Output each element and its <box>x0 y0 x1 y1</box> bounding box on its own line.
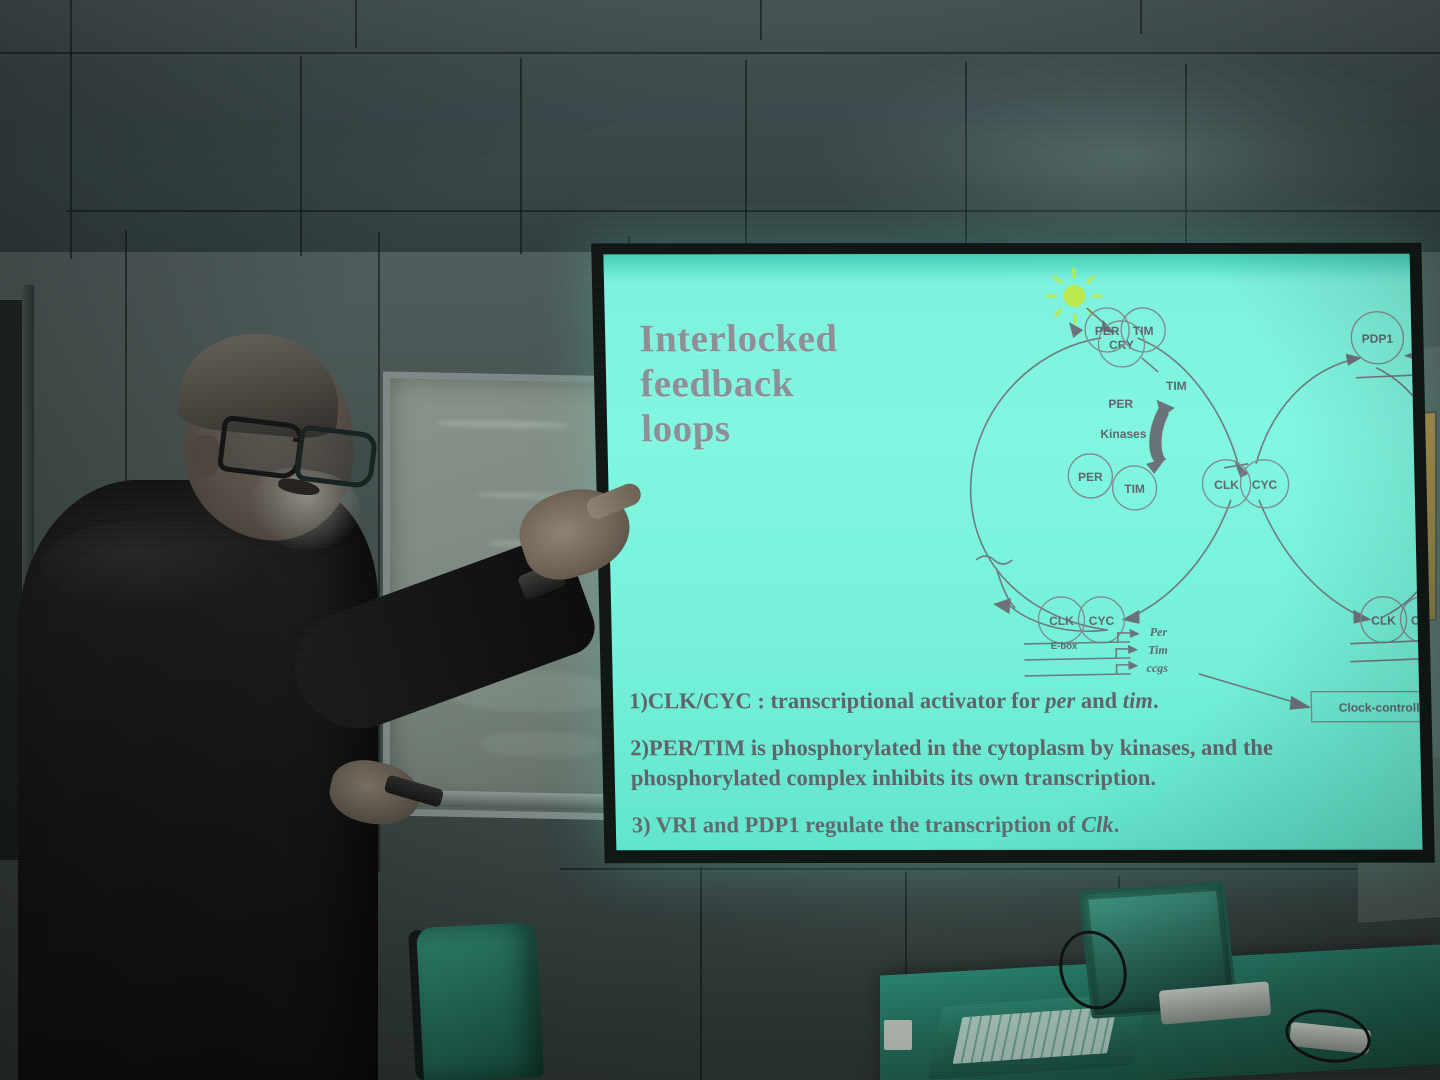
wall-seam <box>700 866 702 1080</box>
presenter-ear <box>190 435 220 477</box>
node-label-cry: CRY <box>1109 338 1134 352</box>
left-loop-arc-down <box>967 338 1107 630</box>
clkcyc-to-right-gene <box>1259 500 1360 616</box>
cabinet-bottom-edge <box>66 210 1440 212</box>
ceiling-seam <box>0 52 1440 54</box>
eyeglass-lens-left <box>217 415 305 481</box>
bullet-3-suffix: . <box>1113 812 1119 837</box>
promoter-line-pdp1 <box>1350 658 1422 662</box>
node-label-tim-free: TIM <box>1166 379 1187 393</box>
node-label-clk-right: CLK <box>1371 614 1396 628</box>
node-label-per-free: PER <box>1108 397 1133 411</box>
bullet-1-italic-per: per <box>1045 688 1076 713</box>
cabinet-seam <box>1185 64 1187 244</box>
wall-seam <box>560 868 1440 870</box>
cry-to-tim-line <box>1142 358 1158 372</box>
arrowhead-right-gene <box>1353 610 1371 624</box>
promoter-label-ebox: E-box <box>1051 641 1078 652</box>
bullet-2-line-1: 2)PER/TIM is phosphorylated in the cytop… <box>630 735 1273 761</box>
promoter-line-tim <box>1024 658 1130 660</box>
pdp1-activate-arc <box>1414 355 1423 393</box>
ceiling-seam <box>760 0 762 40</box>
slide-title-line-2: feedback <box>640 361 839 406</box>
arrowhead-pdp1-top <box>1404 350 1420 362</box>
tss-arrow-dclk <box>1416 365 1423 374</box>
ceiling <box>0 0 1440 120</box>
ceiling-seam <box>1140 0 1142 34</box>
arrowhead-pertim-entry <box>1069 322 1083 338</box>
node-label-per-top: PER <box>1095 324 1120 338</box>
mrna-squiggle-left <box>976 556 1012 564</box>
eyeglass-lens-right <box>294 424 378 489</box>
node-label-per-cyt: PER <box>1078 470 1103 484</box>
arrowhead-tss-tim <box>1128 645 1138 654</box>
arrowhead-tss-per <box>1130 629 1140 638</box>
eyeglasses-icon <box>218 415 393 483</box>
bullet-3: 3) VRI and PDP1 regulate the transcripti… <box>632 810 1413 841</box>
gene-label-per: Per <box>1150 625 1168 639</box>
node-label-cyc-right: CYC <box>1411 614 1423 628</box>
vri-inhibit-arc <box>1417 308 1423 368</box>
slide-bullets: 1)CLK/CYC : transcriptional activator fo… <box>629 686 1413 851</box>
tss-arrow-tim <box>1116 649 1128 658</box>
cabinet-seam <box>70 54 72 259</box>
bullet-2-line-2: phosphorylated complex inhibits its own … <box>631 765 1157 790</box>
gene-label-ccgs: ccgs <box>1146 661 1168 675</box>
bullet-1-mid: and <box>1075 688 1123 713</box>
slide-title: Interlocked feedback loops <box>639 316 840 451</box>
chair <box>416 922 544 1080</box>
clkcyc-to-ebox <box>1131 500 1234 616</box>
bullet-1-prefix: 1)CLK/CYC : transcriptional activator fo… <box>629 688 1046 713</box>
tss-arrow-ccgs <box>1116 665 1128 674</box>
presenter-shoulder-highlight <box>40 520 270 610</box>
ceiling-seam <box>70 0 72 56</box>
node-label-kinases: Kinases <box>1100 427 1147 441</box>
lecture-photo: Interlocked feedback loops <box>0 0 1440 1080</box>
right-loop-arc <box>1376 368 1423 618</box>
projection-screen-frame: Interlocked feedback loops <box>591 243 1435 864</box>
bullet-3-prefix: 3) VRI and PDP1 regulate the transcripti… <box>632 812 1082 837</box>
pathway-svg: CRY TIM PER Kinases PER TIM <box>904 268 1413 668</box>
bullet-2: 2)PER/TIM is phosphorylated in the cytop… <box>630 733 1411 794</box>
bullet-3-italic-clk: Clk <box>1081 812 1114 837</box>
projected-slide: Interlocked feedback loops <box>603 254 1422 851</box>
bullet-1-italic-tim: tim <box>1122 688 1153 713</box>
node-label-pdp1-top: PDP1 <box>1362 332 1394 346</box>
node-label-clk-mid: CLK <box>1214 478 1239 492</box>
wall-outlet[interactable] <box>884 1020 912 1050</box>
cabinet-seam <box>965 62 967 247</box>
cabinet-seam <box>520 58 522 254</box>
node-label-tim-cyt: TIM <box>1124 482 1145 496</box>
promoter-line-ccgs <box>1025 674 1131 676</box>
node-label-cyc-mid: CYC <box>1252 478 1278 492</box>
node-label-clk-left: CLK <box>1049 614 1074 628</box>
cabinet-seam <box>745 60 747 250</box>
pathway-diagram: CRY TIM PER Kinases PER TIM <box>904 268 1413 668</box>
node-label-tim-top: TIM <box>1133 324 1154 338</box>
presenter <box>0 330 640 1080</box>
slide-title-line-1: Interlocked <box>639 316 838 361</box>
clkcyc-to-pdp1-arc <box>1254 360 1354 464</box>
kinases-thick-arrow <box>1148 408 1170 464</box>
cabinet-seam <box>300 56 302 256</box>
bullet-1-suffix: . <box>1153 688 1159 713</box>
bullet-1: 1)CLK/CYC : transcriptional activator fo… <box>629 686 1410 717</box>
ceiling-seam <box>355 0 357 48</box>
gene-label-tim: Tim <box>1148 643 1168 657</box>
arrowhead-tss-ccgs <box>1128 661 1138 670</box>
slide-title-line-3: loops <box>641 406 840 451</box>
node-label-cyc-left: CYC <box>1089 614 1115 628</box>
